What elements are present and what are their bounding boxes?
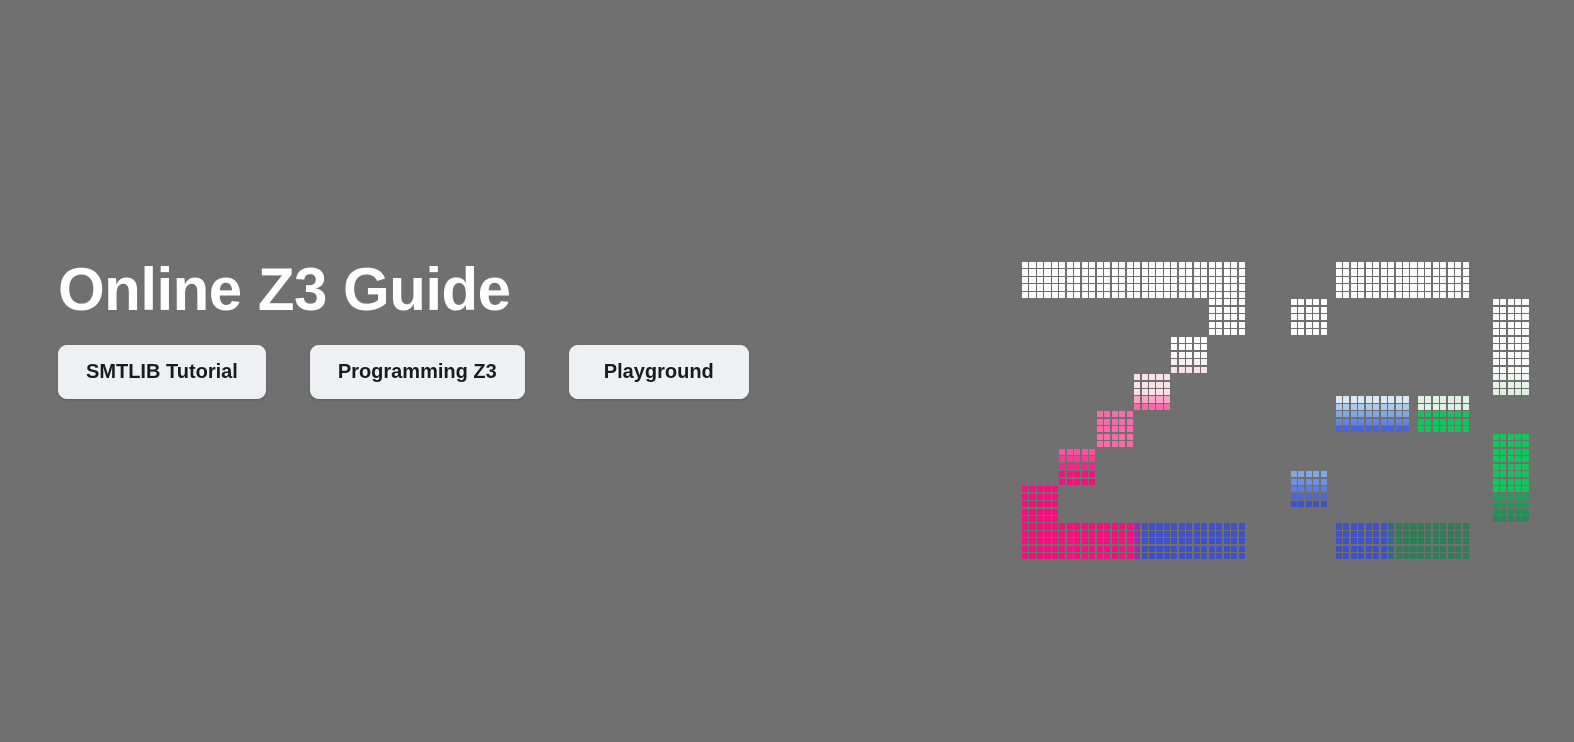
logo-pixel	[1433, 396, 1439, 402]
logo-pixel	[1089, 262, 1095, 268]
logo-pixel	[1433, 426, 1439, 432]
logo-pixel	[1418, 396, 1424, 402]
logo-pixel	[1396, 292, 1402, 298]
logo-pixel	[1179, 367, 1185, 373]
logo-pixel	[1448, 277, 1454, 283]
logo-pixel	[1149, 546, 1155, 552]
logo-pixel	[1082, 284, 1088, 290]
logo-pixel	[1336, 531, 1342, 537]
logo-pixel	[1104, 531, 1110, 537]
logo-pixel	[1291, 329, 1297, 335]
logo-pixel	[1463, 277, 1469, 283]
logo-pixel	[1388, 284, 1394, 290]
logo-pixel	[1373, 426, 1379, 432]
logo-pixel	[1029, 538, 1035, 544]
logo-pixel	[1044, 538, 1050, 544]
logo-pixel	[1231, 299, 1237, 305]
logo-pixel	[1037, 538, 1043, 544]
logo-pixel	[1231, 553, 1237, 559]
logo-pixel	[1112, 553, 1118, 559]
logo-pixel	[1381, 262, 1387, 268]
logo-pixel	[1209, 277, 1215, 283]
logo-pixel	[1508, 464, 1514, 470]
logo-pixel	[1358, 419, 1364, 425]
logo-pixel	[1336, 396, 1342, 402]
logo-pixel	[1149, 538, 1155, 544]
logo-pixel	[1239, 277, 1245, 283]
logo-pixel	[1037, 523, 1043, 529]
logo-pixel	[1044, 494, 1050, 500]
logo-pixel	[1313, 329, 1319, 335]
logo-pixel	[1343, 419, 1349, 425]
logo-pixel	[1433, 546, 1439, 552]
logo-pixel	[1381, 419, 1387, 425]
logo-pixel	[1142, 284, 1148, 290]
logo-pixel	[1164, 374, 1170, 380]
logo-pixel	[1186, 292, 1192, 298]
logo-pixel	[1321, 471, 1327, 477]
logo-pixel	[1231, 531, 1237, 537]
logo-pixel	[1515, 479, 1521, 485]
logo-pixel	[1455, 262, 1461, 268]
logo-pixel	[1156, 382, 1162, 388]
logo-pixel	[1209, 531, 1215, 537]
logo-pixel	[1216, 292, 1222, 298]
logo-pixel	[1216, 314, 1222, 320]
logo-pixel	[1493, 516, 1499, 522]
logo-pixel	[1089, 546, 1095, 552]
logo-pixel	[1186, 277, 1192, 283]
logo-pixel	[1425, 523, 1431, 529]
logo-pixel	[1418, 546, 1424, 552]
logo-pixel	[1119, 269, 1125, 275]
logo-pixel	[1194, 546, 1200, 552]
logo-pixel	[1216, 284, 1222, 290]
logo-pixel	[1104, 553, 1110, 559]
logo-pixel	[1067, 456, 1073, 462]
logo-pixel	[1463, 404, 1469, 410]
logo-pixel	[1425, 553, 1431, 559]
logo-pixel	[1239, 531, 1245, 537]
logo-pixel	[1515, 322, 1521, 328]
logo-pixel	[1388, 419, 1394, 425]
logo-pixel	[1134, 389, 1140, 395]
logo-pixel	[1448, 262, 1454, 268]
logo-pixel	[1493, 359, 1499, 365]
logo-pixel	[1149, 284, 1155, 290]
logo-pixel	[1351, 523, 1357, 529]
logo-pixel	[1336, 411, 1342, 417]
logo-pixel	[1418, 538, 1424, 544]
logo-pixel	[1388, 538, 1394, 544]
logo-pixel	[1455, 277, 1461, 283]
logo-pixel	[1142, 374, 1148, 380]
logo-pixel	[1306, 486, 1312, 492]
logo-pixel	[1119, 277, 1125, 283]
logo-pixel	[1209, 322, 1215, 328]
logo-pixel	[1463, 426, 1469, 432]
logo-pixel	[1119, 434, 1125, 440]
logo-pixel	[1216, 329, 1222, 335]
logo-pixel	[1508, 329, 1514, 335]
logo-pixel	[1433, 284, 1439, 290]
logo-pixel	[1403, 538, 1409, 544]
logo-pixel	[1366, 553, 1372, 559]
logo-pixel	[1433, 404, 1439, 410]
logo-pixel	[1209, 284, 1215, 290]
logo-pixel	[1500, 329, 1506, 335]
logo-pixel	[1134, 523, 1140, 529]
logo-pixel	[1239, 538, 1245, 544]
logo-pixel	[1059, 523, 1065, 529]
logo-pixel	[1171, 546, 1177, 552]
logo-pixel	[1500, 299, 1506, 305]
logo-pixel	[1321, 501, 1327, 507]
logo-pixel	[1396, 546, 1402, 552]
logo-pixel	[1448, 284, 1454, 290]
logo-pixel	[1448, 419, 1454, 425]
logo-pixel	[1186, 367, 1192, 373]
logo-pixel	[1104, 538, 1110, 544]
logo-pixel	[1089, 471, 1095, 477]
logo-pixel	[1142, 538, 1148, 544]
logo-pixel	[1134, 382, 1140, 388]
logo-pixel	[1074, 269, 1080, 275]
logo-pixel	[1022, 553, 1028, 559]
logo-pixel	[1186, 352, 1192, 358]
logo-pixel	[1119, 262, 1125, 268]
logo-pixel	[1500, 471, 1506, 477]
logo-pixel	[1493, 494, 1499, 500]
logo-pixel	[1127, 426, 1133, 432]
logo-pixel	[1336, 269, 1342, 275]
logo-pixel	[1044, 501, 1050, 507]
logo-pixel	[1500, 359, 1506, 365]
logo-pixel	[1104, 523, 1110, 529]
logo-pixel	[1515, 307, 1521, 313]
logo-pixel	[1067, 479, 1073, 485]
logo-pixel	[1209, 299, 1215, 305]
logo-pixel	[1351, 531, 1357, 537]
logo-pixel	[1403, 531, 1409, 537]
logo-pixel	[1396, 419, 1402, 425]
logo-pixel	[1171, 292, 1177, 298]
logo-pixel	[1508, 299, 1514, 305]
logo-pixel	[1410, 396, 1416, 402]
logo-pixel	[1403, 277, 1409, 283]
logo-pixel	[1321, 314, 1327, 320]
logo-pixel	[1522, 456, 1528, 462]
logo-pixel	[1149, 277, 1155, 283]
logo-pixel	[1418, 426, 1424, 432]
logo-pixel	[1463, 553, 1469, 559]
logo-pixel	[1381, 404, 1387, 410]
logo-pixel	[1209, 523, 1215, 529]
logo-pixel	[1321, 299, 1327, 305]
logo-pixel	[1500, 307, 1506, 313]
logo-pixel	[1433, 411, 1439, 417]
logo-pixel	[1089, 456, 1095, 462]
logo-pixel	[1440, 277, 1446, 283]
logo-pixel	[1366, 269, 1372, 275]
logo-pixel	[1418, 419, 1424, 425]
logo-pixel	[1291, 299, 1297, 305]
logo-pixel	[1508, 352, 1514, 358]
logo-pixel	[1522, 486, 1528, 492]
logo-pixel	[1388, 396, 1394, 402]
logo-pixel	[1522, 352, 1528, 358]
logo-pixel	[1074, 284, 1080, 290]
logo-pixel	[1343, 284, 1349, 290]
logo-pixel	[1171, 344, 1177, 350]
logo-pixel	[1044, 531, 1050, 537]
logo-pixel	[1522, 299, 1528, 305]
logo-pixel	[1127, 411, 1133, 417]
logo-pixel	[1029, 546, 1035, 552]
hero-section: Online Z3 Guide SMTLIB Tutorial Programm…	[0, 0, 1574, 742]
logo-pixel	[1231, 538, 1237, 544]
logo-pixel	[1336, 538, 1342, 544]
logo-pixel	[1440, 284, 1446, 290]
logo-pixel	[1373, 284, 1379, 290]
logo-pixel	[1097, 538, 1103, 544]
logo-pixel	[1059, 269, 1065, 275]
logo-pixel	[1074, 546, 1080, 552]
logo-pixel	[1343, 538, 1349, 544]
logo-pixel	[1358, 553, 1364, 559]
logo-pixel	[1089, 284, 1095, 290]
logo-pixel	[1164, 269, 1170, 275]
logo-pixel	[1515, 434, 1521, 440]
logo-pixel	[1493, 509, 1499, 515]
playground-button[interactable]: Playground	[569, 345, 749, 399]
logo-pixel	[1425, 396, 1431, 402]
logo-pixel	[1037, 277, 1043, 283]
logo-pixel	[1022, 531, 1028, 537]
logo-pixel	[1119, 419, 1125, 425]
logo-pixel	[1522, 434, 1528, 440]
logo-pixel	[1127, 292, 1133, 298]
logo-pixel	[1037, 269, 1043, 275]
logo-pixel	[1029, 284, 1035, 290]
logo-pixel	[1298, 479, 1304, 485]
logo-pixel	[1022, 546, 1028, 552]
logo-pixel	[1515, 299, 1521, 305]
logo-pixel	[1425, 531, 1431, 537]
logo-pixel	[1052, 516, 1058, 522]
logo-pixel	[1455, 404, 1461, 410]
logo-pixel	[1201, 277, 1207, 283]
logo-pixel	[1358, 262, 1364, 268]
logo-pixel	[1298, 494, 1304, 500]
logo-pixel	[1201, 367, 1207, 373]
logo-pixel	[1067, 531, 1073, 537]
logo-pixel	[1396, 411, 1402, 417]
logo-pixel	[1433, 531, 1439, 537]
logo-pixel	[1373, 538, 1379, 544]
logo-pixel	[1508, 494, 1514, 500]
logo-pixel	[1119, 538, 1125, 544]
logo-pixel	[1388, 523, 1394, 529]
logo-pixel	[1216, 523, 1222, 529]
logo-pixel	[1493, 382, 1499, 388]
logo-pixel	[1493, 464, 1499, 470]
logo-pixel	[1156, 553, 1162, 559]
logo-pixel	[1029, 262, 1035, 268]
logo-pixel	[1410, 531, 1416, 537]
logo-pixel	[1291, 486, 1297, 492]
logo-pixel	[1119, 426, 1125, 432]
logo-pixel	[1358, 292, 1364, 298]
logo-pixel	[1366, 404, 1372, 410]
logo-pixel	[1343, 553, 1349, 559]
logo-pixel	[1448, 396, 1454, 402]
logo-pixel	[1022, 538, 1028, 544]
logo-pixel	[1336, 553, 1342, 559]
logo-pixel	[1396, 404, 1402, 410]
logo-pixel	[1067, 277, 1073, 283]
logo-pixel	[1366, 292, 1372, 298]
logo-pixel	[1059, 456, 1065, 462]
logo-pixel	[1343, 411, 1349, 417]
logo-pixel	[1209, 292, 1215, 298]
logo-pixel	[1381, 523, 1387, 529]
logo-pixel	[1149, 389, 1155, 395]
logo-pixel	[1366, 277, 1372, 283]
logo-pixel	[1179, 359, 1185, 365]
logo-pixel	[1403, 404, 1409, 410]
logo-pixel	[1313, 307, 1319, 313]
logo-pixel	[1119, 411, 1125, 417]
logo-pixel	[1052, 501, 1058, 507]
logo-pixel	[1224, 523, 1230, 529]
logo-pixel	[1112, 546, 1118, 552]
logo-pixel	[1366, 396, 1372, 402]
smtlib-tutorial-button[interactable]: SMTLIB Tutorial	[58, 345, 266, 399]
logo-pixel	[1171, 337, 1177, 343]
logo-pixel	[1179, 553, 1185, 559]
programming-z3-button[interactable]: Programming Z3	[310, 345, 525, 399]
logo-pixel	[1044, 292, 1050, 298]
logo-pixel	[1463, 269, 1469, 275]
logo-pixel	[1074, 538, 1080, 544]
logo-pixel	[1515, 441, 1521, 447]
logo-pixel	[1306, 307, 1312, 313]
logo-pixel	[1201, 523, 1207, 529]
logo-pixel	[1112, 292, 1118, 298]
logo-pixel	[1351, 269, 1357, 275]
logo-pixel	[1194, 359, 1200, 365]
logo-pixel	[1194, 277, 1200, 283]
logo-pixel	[1231, 314, 1237, 320]
logo-pixel	[1440, 411, 1446, 417]
logo-pixel	[1134, 531, 1140, 537]
logo-pixel	[1410, 411, 1416, 417]
logo-pixel	[1313, 471, 1319, 477]
logo-pixel	[1336, 419, 1342, 425]
logo-pixel	[1201, 292, 1207, 298]
logo-pixel	[1082, 262, 1088, 268]
logo-pixel	[1351, 411, 1357, 417]
logo-pixel	[1186, 344, 1192, 350]
logo-pixel	[1425, 292, 1431, 298]
logo-pixel	[1306, 329, 1312, 335]
logo-pixel	[1134, 262, 1140, 268]
logo-pixel	[1522, 479, 1528, 485]
logo-pixel	[1493, 389, 1499, 395]
logo-pixel	[1508, 434, 1514, 440]
logo-pixel	[1321, 322, 1327, 328]
logo-pixel	[1179, 269, 1185, 275]
logo-pixel	[1515, 337, 1521, 343]
logo-pixel	[1239, 329, 1245, 335]
logo-pixel	[1433, 538, 1439, 544]
logo-pixel	[1164, 389, 1170, 395]
logo-pixel	[1082, 538, 1088, 544]
logo-pixel	[1508, 307, 1514, 313]
logo-pixel	[1522, 337, 1528, 343]
logo-pixel	[1089, 538, 1095, 544]
logo-pixel	[1373, 269, 1379, 275]
logo-pixel	[1119, 523, 1125, 529]
logo-pixel	[1112, 426, 1118, 432]
logo-pixel	[1321, 486, 1327, 492]
logo-pixel	[1351, 396, 1357, 402]
logo-pixel	[1067, 471, 1073, 477]
logo-pixel	[1396, 553, 1402, 559]
logo-pixel	[1186, 553, 1192, 559]
logo-pixel	[1291, 501, 1297, 507]
logo-pixel	[1059, 262, 1065, 268]
logo-pixel	[1522, 441, 1528, 447]
logo-pixel	[1508, 344, 1514, 350]
logo-pixel	[1455, 419, 1461, 425]
logo-pixel	[1082, 277, 1088, 283]
logo-pixel	[1224, 322, 1230, 328]
logo-pixel	[1052, 269, 1058, 275]
logo-pixel	[1216, 299, 1222, 305]
logo-pixel	[1418, 292, 1424, 298]
logo-pixel	[1343, 404, 1349, 410]
logo-pixel	[1231, 322, 1237, 328]
logo-pixel	[1134, 269, 1140, 275]
logo-pixel	[1440, 426, 1446, 432]
logo-pixel	[1440, 531, 1446, 537]
logo-pixel	[1067, 523, 1073, 529]
logo-pixel	[1396, 262, 1402, 268]
logo-pixel	[1171, 277, 1177, 283]
logo-pixel	[1067, 292, 1073, 298]
logo-pixel	[1381, 531, 1387, 537]
logo-pixel	[1493, 501, 1499, 507]
logo-pixel	[1209, 329, 1215, 335]
logo-pixel	[1067, 269, 1073, 275]
logo-pixel	[1381, 284, 1387, 290]
logo-pixel	[1508, 314, 1514, 320]
logo-pixel	[1201, 344, 1207, 350]
logo-pixel	[1321, 494, 1327, 500]
logo-pixel	[1194, 523, 1200, 529]
logo-pixel	[1037, 486, 1043, 492]
logo-pixel	[1463, 262, 1469, 268]
logo-pixel	[1097, 553, 1103, 559]
logo-pixel	[1112, 277, 1118, 283]
logo-pixel	[1508, 471, 1514, 477]
logo-pixel	[1448, 404, 1454, 410]
logo-pixel	[1403, 269, 1409, 275]
logo-pixel	[1224, 307, 1230, 313]
logo-pixel	[1186, 262, 1192, 268]
